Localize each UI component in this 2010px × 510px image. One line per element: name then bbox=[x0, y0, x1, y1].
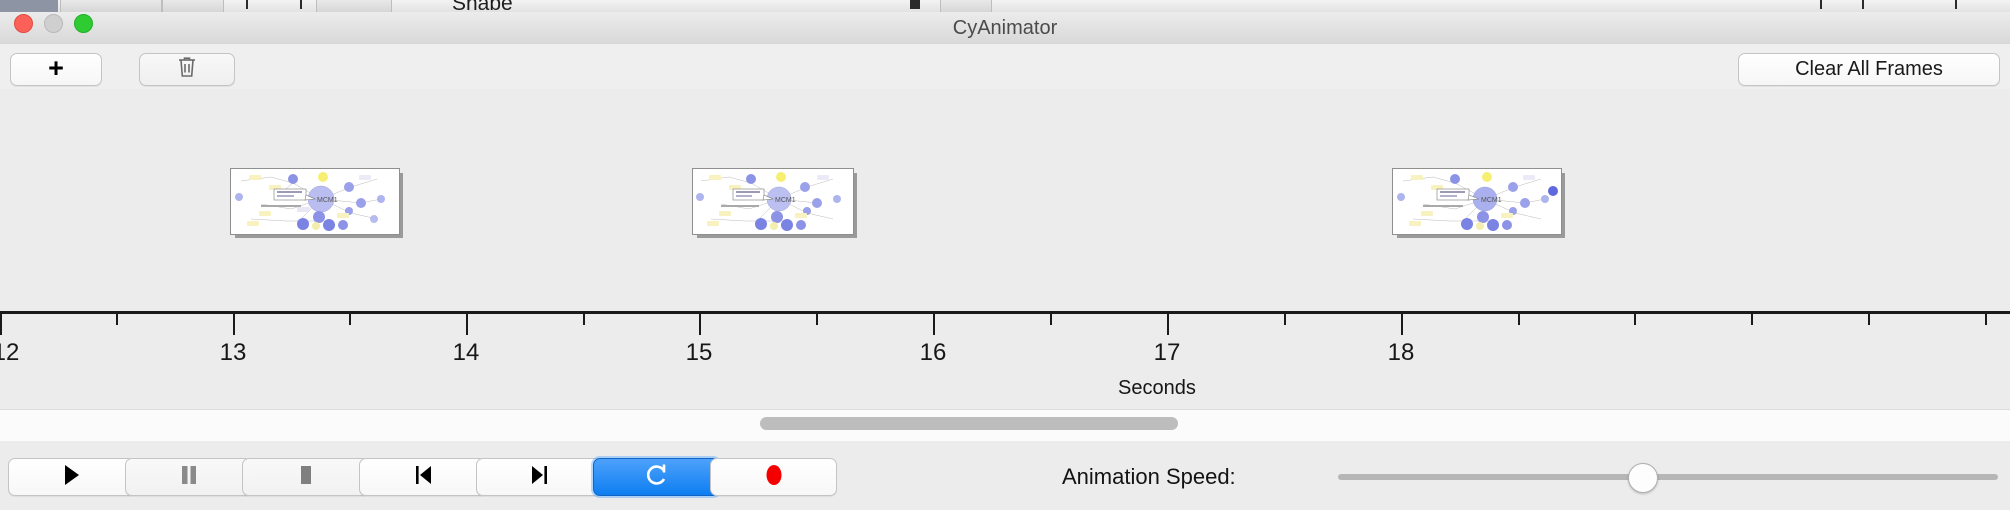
background-tab-1 bbox=[60, 0, 162, 12]
axis-tick-minor bbox=[1050, 314, 1052, 325]
axis-tick-minor bbox=[816, 314, 818, 325]
axis-title-wrap: Seconds bbox=[0, 377, 2010, 400]
clear-all-frames-label: Clear All Frames bbox=[1795, 58, 1943, 81]
frame-image: MCM1 bbox=[692, 168, 854, 235]
background-tick-6 bbox=[1955, 0, 1957, 9]
axis-tick-minor bbox=[1868, 314, 1870, 325]
axis-tick-major bbox=[466, 314, 468, 335]
axis-tick-major bbox=[699, 314, 701, 335]
frame-thumbnail[interactable]: MCM1 bbox=[1392, 168, 1560, 233]
background-tick-4 bbox=[1820, 0, 1822, 9]
frame-image: MCM1 bbox=[1392, 168, 1562, 235]
axis-label: 18 bbox=[1388, 339, 1415, 367]
pause-button[interactable] bbox=[125, 458, 252, 496]
background-tab-2 bbox=[162, 0, 224, 12]
cyanimator-window: Shape CyAnimator + Clear All Frames bbox=[0, 0, 2010, 510]
axis-tick-minor bbox=[1518, 314, 1520, 325]
axis-title: Seconds bbox=[1118, 377, 1196, 400]
axis-tick-minor bbox=[1634, 314, 1636, 325]
frame-thumbnail[interactable]: MCM1 bbox=[692, 168, 852, 233]
toolbar bbox=[0, 44, 2010, 90]
animation-speed-slider-thumb[interactable] bbox=[1628, 463, 1658, 493]
axis-tick-minor bbox=[349, 314, 351, 325]
axis-tick-major bbox=[233, 314, 235, 335]
play-button[interactable] bbox=[8, 458, 135, 496]
background-window-label: Shape bbox=[452, 0, 513, 10]
axis-label: 15 bbox=[686, 339, 713, 367]
play-icon bbox=[62, 463, 82, 492]
trash-icon bbox=[176, 55, 198, 84]
axis-tick-major bbox=[1401, 314, 1403, 335]
skip-start-button[interactable] bbox=[359, 458, 486, 496]
window-title: CyAnimator bbox=[0, 12, 2010, 44]
clear-all-frames-button[interactable]: Clear All Frames bbox=[1738, 53, 2000, 86]
timeline-panel[interactable]: MCM1 bbox=[0, 89, 2010, 410]
stop-icon bbox=[296, 463, 316, 492]
delete-frame-button[interactable] bbox=[139, 53, 235, 86]
animation-speed-label: Animation Speed: bbox=[1062, 458, 1236, 496]
record-button[interactable] bbox=[710, 458, 837, 496]
axis-label: 14 bbox=[453, 339, 480, 367]
background-tick-1 bbox=[246, 0, 248, 9]
skip-start-icon bbox=[412, 463, 434, 492]
axis-tick-major bbox=[933, 314, 935, 335]
skip-end-icon bbox=[529, 463, 551, 492]
frame-node-label: MCM1 bbox=[775, 197, 796, 204]
timeline-scrollbar-thumb[interactable] bbox=[760, 417, 1178, 430]
axis-label: 16 bbox=[920, 339, 947, 367]
background-tick-3 bbox=[910, 0, 920, 9]
axis-tick-minor bbox=[583, 314, 585, 325]
background-tick-5 bbox=[1862, 0, 1864, 9]
background-tab-4 bbox=[940, 0, 992, 12]
axis-tick-major bbox=[0, 314, 2, 335]
skip-end-button[interactable] bbox=[476, 458, 603, 496]
background-tick-2 bbox=[300, 0, 302, 9]
axis-label: 12 bbox=[0, 339, 19, 367]
background-window-sidebar bbox=[0, 0, 58, 12]
frame-thumbnail[interactable]: MCM1 bbox=[230, 168, 398, 233]
axis-tick-major bbox=[1167, 314, 1169, 335]
loop-icon bbox=[645, 462, 669, 493]
record-icon bbox=[763, 462, 785, 493]
frame-node-label: MCM1 bbox=[1481, 197, 1502, 204]
axis-label: 17 bbox=[1154, 339, 1181, 367]
timeline-scrollbar-track[interactable] bbox=[0, 409, 2010, 442]
pause-icon bbox=[179, 463, 199, 492]
animation-speed-slider-track[interactable] bbox=[1338, 474, 1998, 480]
axis-tick-minor bbox=[116, 314, 118, 325]
frame-image: MCM1 bbox=[230, 168, 400, 235]
frame-node-label: MCM1 bbox=[317, 197, 338, 204]
axis-tick-minor bbox=[1985, 314, 1987, 325]
add-frame-button[interactable]: + bbox=[10, 53, 102, 86]
loop-button[interactable] bbox=[593, 458, 720, 496]
timeline-axis bbox=[0, 311, 2010, 314]
axis-tick-minor bbox=[1284, 314, 1286, 325]
stop-button[interactable] bbox=[242, 458, 369, 496]
axis-tick-minor bbox=[1751, 314, 1753, 325]
background-tab-3 bbox=[316, 0, 392, 12]
axis-label: 13 bbox=[220, 339, 247, 367]
plus-icon: + bbox=[48, 55, 64, 82]
